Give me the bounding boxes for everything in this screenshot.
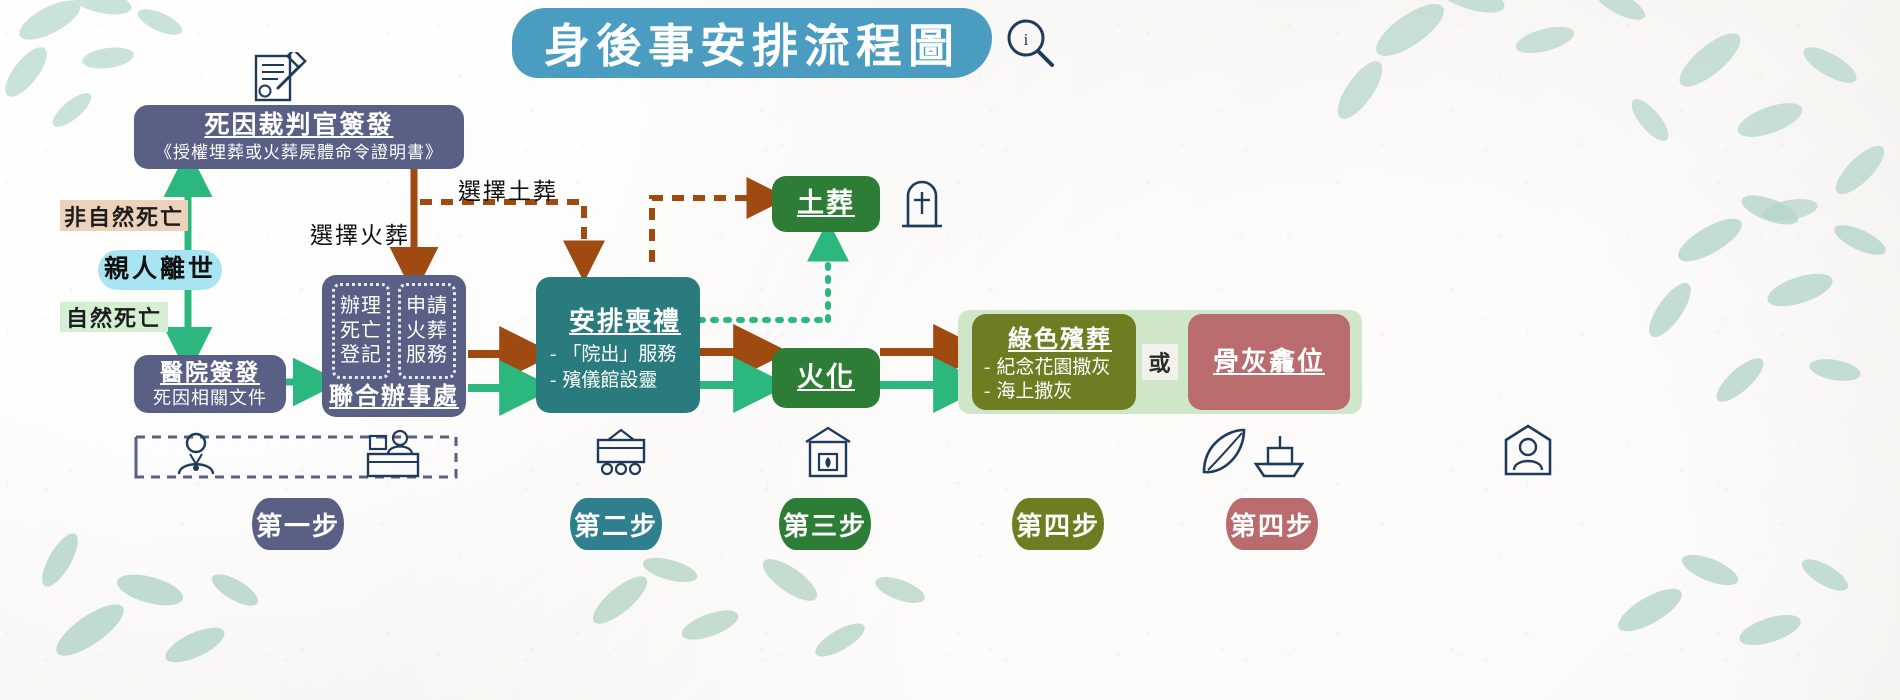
- label-or: 或: [1142, 344, 1178, 380]
- leaf-decoration-right-mid: [1620, 180, 1900, 480]
- node-hospital[interactable]: 醫院簽發 死因相關文件: [134, 355, 286, 413]
- magnifier-info-icon: i: [1000, 14, 1060, 70]
- dr-line-2: 死亡: [340, 319, 382, 343]
- node-green-burial-item-1-text: 海上撒灰: [996, 381, 1072, 403]
- leaf-decoration-top-right: [1290, 0, 1900, 270]
- node-passing-label: 親人離世: [104, 255, 216, 285]
- step-pill-4[interactable]: 第四步: [1012, 498, 1104, 550]
- step-pill-5[interactable]: 第四步: [1226, 498, 1318, 550]
- label-unnatural-death: 非自然死亡: [60, 200, 188, 231]
- label-choose-burial: 選擇土葬: [458, 172, 558, 206]
- flowchart-canvas: 身後事安排流程圖 i: [0, 0, 1900, 700]
- leaf-boat-icon: [1198, 420, 1308, 482]
- node-green-burial-title: 綠色殯葬: [1008, 326, 1112, 354]
- node-hospital-title: 醫院簽發: [160, 359, 260, 386]
- ca-line-1: 申請: [406, 294, 448, 318]
- ca-line-3: 服務: [406, 343, 448, 367]
- node-coroner-subtitle: 《授權埋葬或火葬屍體命令證明書》: [155, 143, 443, 163]
- node-urn-niche[interactable]: 骨灰龕位: [1188, 314, 1350, 410]
- node-joint-office[interactable]: 辦理 死亡 登記 申請 火葬 服務 聯合辦事處: [322, 275, 466, 417]
- funeral-hall-icon: [590, 424, 652, 480]
- crematorium-icon: [802, 424, 854, 480]
- node-funeral-title: 安排喪禮: [569, 307, 681, 338]
- step-pill-1-label: 第一步: [256, 506, 340, 543]
- service-counter-icon: [362, 424, 424, 480]
- leaf-decoration-bottom-center: [560, 530, 980, 700]
- joint-office-box-death-registration[interactable]: 辦理 死亡 登記: [332, 283, 390, 379]
- bullet-dash: -: [550, 370, 556, 392]
- node-funeral-item-0-text: 「院出」服務: [562, 344, 676, 366]
- node-coroner-title: 死因裁判官簽發: [204, 111, 393, 141]
- label-unnatural-death-text: 非自然死亡: [64, 200, 184, 232]
- node-cremation[interactable]: 火化: [772, 348, 880, 408]
- node-passing[interactable]: 親人離世: [98, 250, 222, 290]
- node-cremation-title: 火化: [797, 362, 855, 394]
- bullet-dash: -: [984, 381, 990, 403]
- step-pill-1[interactable]: 第一步: [252, 498, 344, 550]
- dr-line-3: 登記: [340, 343, 382, 367]
- joint-office-box-cremation-application[interactable]: 申請 火葬 服務: [398, 283, 456, 379]
- page-title-band: 身後事安排流程圖: [512, 8, 992, 78]
- label-natural-death: 自然死亡: [60, 302, 168, 332]
- label-choose-cremation: 選擇火葬: [310, 216, 410, 250]
- node-funeral-item-0: - 「院出」服務: [550, 344, 676, 366]
- node-urn-niche-title: 骨灰龕位: [1213, 347, 1325, 378]
- node-burial-title: 土葬: [797, 188, 855, 220]
- page-title: 身後事安排流程圖: [544, 10, 960, 76]
- label-or-text: 或: [1148, 346, 1171, 378]
- label-choose-burial-text: 選擇土葬: [458, 179, 558, 204]
- node-coroner[interactable]: 死因裁判官簽發 《授權埋葬或火葬屍體命令證明書》: [134, 105, 464, 169]
- step-pill-3[interactable]: 第三步: [779, 498, 871, 550]
- step-pill-2[interactable]: 第二步: [570, 498, 662, 550]
- node-green-burial[interactable]: 綠色殯葬 - 紀念花園撒灰 - 海上撒灰: [972, 314, 1136, 410]
- node-green-burial-item-0: - 紀念花園撒灰: [984, 357, 1110, 379]
- node-green-burial-item-1: - 海上撒灰: [984, 381, 1072, 403]
- ca-line-2: 火葬: [406, 319, 448, 343]
- step-pill-5-label: 第四步: [1230, 506, 1314, 543]
- node-joint-office-footer: 聯合辦事處: [329, 383, 459, 411]
- label-choose-cremation-text: 選擇火葬: [310, 223, 410, 248]
- node-hospital-subtitle: 死因相關文件: [153, 388, 267, 409]
- node-burial[interactable]: 土葬: [772, 176, 880, 232]
- step-pill-4-label: 第四步: [1016, 506, 1100, 543]
- node-funeral[interactable]: 安排喪禮 - 「院出」服務 - 殯儀館設靈: [536, 277, 700, 413]
- step-pill-2-label: 第二步: [574, 506, 658, 543]
- bullet-dash: -: [550, 344, 556, 366]
- node-funeral-item-1-text: 殯儀館設靈: [562, 370, 657, 392]
- document-gavel-icon: [248, 52, 310, 108]
- node-green-burial-item-0-text: 紀念花園撒灰: [996, 357, 1110, 379]
- urn-person-icon: [1500, 420, 1556, 480]
- node-funeral-item-1: - 殯儀館設靈: [550, 370, 657, 392]
- svg-text:i: i: [1024, 30, 1029, 49]
- doctor-icon: [170, 428, 222, 480]
- label-natural-death-text: 自然死亡: [66, 301, 162, 333]
- leaf-decoration-bottom-right: [1560, 520, 1900, 700]
- step-pill-3-label: 第三步: [783, 506, 867, 543]
- dr-line-1: 辦理: [340, 294, 382, 318]
- bullet-dash: -: [984, 357, 990, 379]
- tombstone-icon: [898, 178, 946, 230]
